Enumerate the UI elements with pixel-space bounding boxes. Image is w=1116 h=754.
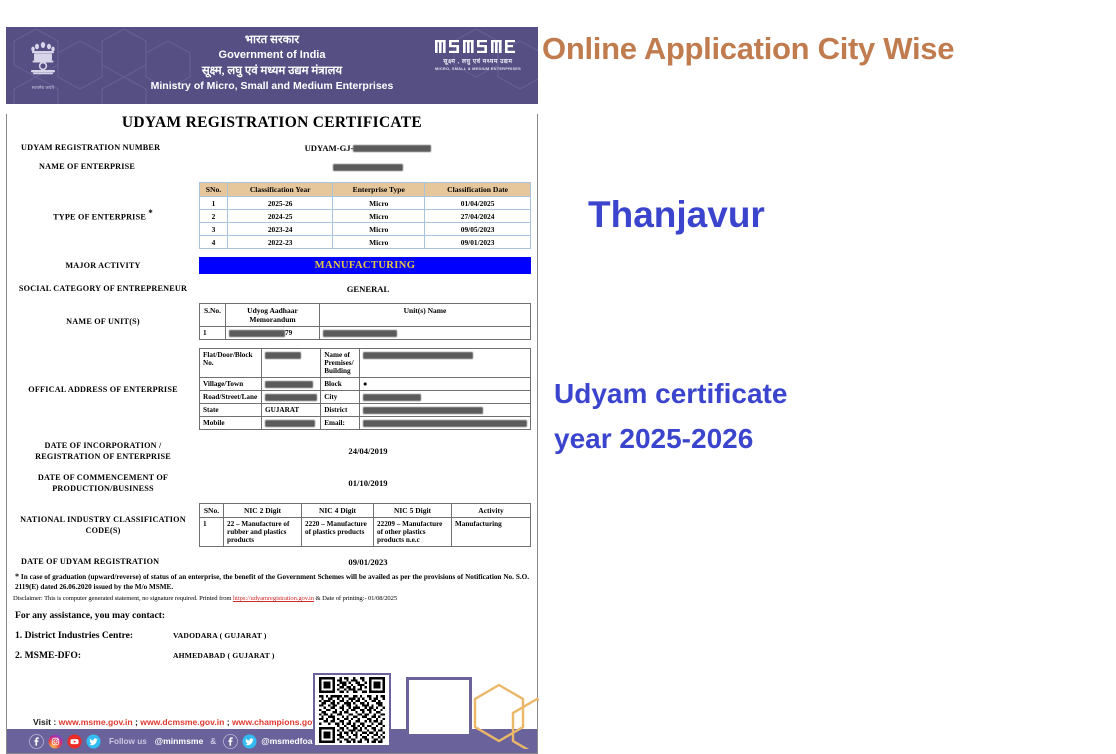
major-activity-banner: MANUFACTURING — [199, 257, 531, 274]
redacted-registration-number — [353, 145, 431, 152]
cell-road-value — [262, 391, 321, 404]
msme-logo-english: MICRO, SMALL & MEDIUM ENTERPRISES — [430, 66, 526, 71]
cell-email-label: Email: — [321, 417, 360, 430]
instagram-icon[interactable] — [48, 734, 63, 749]
row-udyam-registration-date: DATE OF UDYAM REGISTRATION 09/01/2023 — [7, 556, 537, 567]
cell-email-value — [360, 417, 531, 430]
follow-us-text: Follow us — [109, 737, 147, 746]
label-nic-codes: NATIONAL INDUSTRY CLASSIFICATION CODE(S) — [7, 514, 199, 536]
cell-uam: 79 — [226, 327, 320, 340]
row-major-activity: MAJOR ACTIVITY MANUFACTURING — [7, 257, 537, 274]
panel-subtitle: Udyam certificate year 2025-2026 — [554, 371, 787, 461]
units-table-header-row: S.No. Udyog Aadhaar Memorandum Unit(s) N… — [200, 304, 531, 327]
cell-unit-name — [320, 327, 531, 340]
cell-date: 01/04/2025 — [425, 197, 531, 210]
uam-suffix: 79 — [285, 329, 292, 337]
cell-mobile-value — [262, 417, 321, 430]
label-official-address: OFFICAL ADDRESS OF ENTERPRISE — [7, 384, 199, 395]
certificate-title: UDYAM REGISTRATION CERTIFICATE — [7, 114, 537, 132]
cell-type: Micro — [333, 236, 425, 249]
table-row: 1 79 — [200, 327, 531, 340]
th-units-sno: S.No. — [200, 304, 226, 327]
value-social-category: GENERAL — [199, 284, 537, 294]
cell-date: 09/01/2023 — [425, 236, 531, 249]
redacted-premises — [363, 352, 473, 359]
twitter-icon-secondary[interactable] — [242, 734, 257, 749]
right-panel: Online Application City Wise Thanjavur U… — [540, 0, 1116, 753]
th-nic-sno: SNo. — [200, 504, 224, 518]
cell-year: 2025-26 — [228, 197, 333, 210]
value-udyam-registration-date: 09/01/2023 — [199, 557, 537, 567]
th-nic4: NIC 4 Digit — [302, 504, 374, 518]
label-name-of-units: NAME OF UNIT(S) — [7, 316, 199, 327]
redacted-uam — [229, 330, 285, 337]
cell-district-value — [360, 404, 531, 417]
major-activity-wrap: MANUFACTURING — [199, 257, 537, 274]
cell-nic4: 2220 – Manufacture of plastics products — [302, 518, 374, 547]
contact-key: 1. District Industries Centre: — [15, 630, 173, 641]
msme-logo: सूक्ष्म , लघु एवं मध्यम उद्यम MICRO, SMA… — [430, 38, 526, 71]
disclaimer-prefix: Disclaimer: This is computer generated s… — [13, 595, 233, 602]
table-row: Village/Town Block ● — [200, 378, 531, 391]
cell-sno: 4 — [200, 236, 228, 249]
contact-value: AHMEDABAD ( GUJARAT ) — [173, 651, 275, 660]
nic-table-header-row: SNo. NIC 2 Digit NIC 4 Digit NIC 5 Digit… — [200, 504, 531, 518]
label-enterprise-type: TYPE OF ENTERPRISE * — [7, 208, 199, 223]
label-commencement-date: DATE OF COMMENCEMENT OF PRODUCTION/BUSIN… — [7, 472, 199, 494]
cell-date: 27/04/2024 — [425, 210, 531, 223]
cell-sno: 1 — [200, 197, 228, 210]
graduation-footnote: * In case of graduation (upward/reverse)… — [7, 572, 537, 592]
th-nic5: NIC 5 Digit — [374, 504, 452, 518]
address-table: Flat/Door/Block No. Name of Premises/ Bu… — [199, 348, 531, 430]
table-row: 4 2022-23 Micro 09/01/2023 — [200, 236, 531, 249]
th-nic2: NIC 2 Digit — [224, 504, 302, 518]
subtitle-line-1: Udyam certificate — [554, 371, 787, 416]
handle-minmsme[interactable]: @minmsme — [155, 736, 204, 746]
cell-village-value — [262, 378, 321, 391]
cell-year: 2023-24 — [228, 223, 333, 236]
disclaimer-link[interactable]: https://udyamregistration.gov.in — [233, 595, 314, 602]
redacted-mobile — [265, 420, 315, 427]
visit-sep-2: ; — [224, 717, 232, 727]
twitter-icon[interactable] — [86, 734, 101, 749]
msme-logo-icon — [435, 38, 521, 55]
table-row: 1 22 – Manufacture of rubber and plastic… — [200, 518, 531, 547]
header-english-ministry: Ministry of Micro, Small and Medium Ente… — [6, 79, 538, 94]
row-commencement-date: DATE OF COMMENCEMENT OF PRODUCTION/BUSIN… — [7, 472, 537, 494]
cell-premises-label: Name of Premises/ Building — [321, 349, 360, 378]
placeholder-box — [406, 677, 472, 737]
cell-block-label: Block — [321, 378, 360, 391]
row-official-address: OFFICAL ADDRESS OF ENTERPRISE Flat/Door/… — [7, 348, 537, 430]
th-enterprise-type: Enterprise Type — [333, 183, 425, 197]
value-registration-number: UDYAM-GJ- — [199, 143, 537, 153]
udyam-certificate: सत्यमेव जयते भारत सरकार Government of In… — [6, 27, 538, 744]
row-incorporation-date: DATE OF INCORPORATION / REGISTRATION OF … — [7, 440, 537, 462]
facebook-icon[interactable] — [29, 734, 44, 749]
cell-flat-label: Flat/Door/Block No. — [200, 349, 262, 378]
cell-mobile-label: Mobile — [200, 417, 262, 430]
th-unit-name: Unit(s) Name — [320, 304, 531, 327]
cell-date: 09/05/2023 — [425, 223, 531, 236]
row-nic-codes: NATIONAL INDUSTRY CLASSIFICATION CODE(S)… — [7, 503, 537, 547]
youtube-icon[interactable] — [67, 734, 82, 749]
cell-state-label: State — [200, 404, 262, 417]
disclaimer: Disclaimer: This is computer generated s… — [7, 595, 537, 602]
row-name-of-units: NAME OF UNIT(S) S.No. Udyog Aadhaar Memo… — [7, 303, 537, 340]
row-social-category: SOCIAL CATEGORY OF ENTREPRENEUR GENERAL — [7, 283, 537, 294]
qr-code-image — [317, 677, 387, 743]
redacted-unit-name — [323, 330, 397, 337]
facebook-icon-secondary[interactable] — [223, 734, 238, 749]
visit-prefix: Visit : — [33, 717, 59, 727]
cell-sno: 2 — [200, 210, 228, 223]
table-row: Mobile Email: — [200, 417, 531, 430]
classification-table-wrap: SNo. Classification Year Enterprise Type… — [199, 182, 537, 249]
row-registration-number: UDYAM REGISTRATION NUMBER UDYAM-GJ- — [7, 142, 537, 153]
redacted-road — [265, 394, 317, 401]
label-incorporation-date: DATE OF INCORPORATION / REGISTRATION OF … — [7, 440, 199, 462]
cell-units-sno: 1 — [200, 327, 226, 340]
redacted-email — [363, 420, 527, 427]
row-enterprise-type: TYPE OF ENTERPRISE * SNo. Classification… — [7, 182, 537, 249]
contact-key: 2. MSME-DFO: — [15, 650, 173, 661]
address-table-wrap: Flat/Door/Block No. Name of Premises/ Bu… — [199, 348, 537, 430]
units-table: S.No. Udyog Aadhaar Memorandum Unit(s) N… — [199, 303, 531, 340]
cell-sno: 3 — [200, 223, 228, 236]
cell-year: 2024-25 — [228, 210, 333, 223]
label-enterprise-type-text: TYPE OF ENTERPRISE — [53, 213, 146, 222]
cell-district-label: District — [321, 404, 360, 417]
value-enterprise-name — [199, 162, 537, 172]
certificate-header: सत्यमेव जयते भारत सरकार Government of In… — [6, 27, 538, 104]
redacted-enterprise-name — [333, 164, 403, 171]
cell-block-value: ● — [360, 378, 531, 391]
classification-table: SNo. Classification Year Enterprise Type… — [199, 182, 531, 249]
value-incorporation-date: 24/04/2019 — [199, 446, 537, 456]
th-classification-date: Classification Date — [425, 183, 531, 197]
table-row: 1 2025-26 Micro 01/04/2025 — [200, 197, 531, 210]
disclaimer-suffix: & Date of printing:- 01/08/2025 — [314, 595, 397, 602]
footnote-asterisk: * — [15, 572, 19, 581]
contact-msme-dfo: 2. MSME-DFO: AHMEDABAD ( GUJARAT ) — [7, 650, 537, 661]
cell-type: Micro — [333, 210, 425, 223]
cell-premises-value — [360, 349, 531, 378]
redacted-district — [363, 407, 483, 414]
redacted-city — [363, 394, 421, 401]
row-enterprise-name: NAME OF ENTERPRISE — [7, 161, 537, 172]
contact-value: VADODARA ( GUJARAT ) — [173, 631, 267, 640]
registration-number-prefix: UDYAM-GJ- — [305, 143, 354, 153]
cell-city-value — [360, 391, 531, 404]
label-registration-number: UDYAM REGISTRATION NUMBER — [7, 142, 199, 153]
contact-district-industries-centre: 1. District Industries Centre: VADODARA … — [7, 630, 537, 641]
subtitle-line-2: year 2025-2026 — [554, 416, 787, 461]
assistance-title: For any assistance, you may contact: — [7, 610, 537, 621]
label-udyam-registration-date: DATE OF UDYAM REGISTRATION — [7, 556, 199, 567]
cell-year: 2022-23 — [228, 236, 333, 249]
visit-link-dcmsme[interactable]: www.dcmsme.gov.in — [140, 717, 224, 727]
cell-city-label: City — [321, 391, 360, 404]
city-name: Thanjavur — [588, 194, 765, 236]
th-classification-year: Classification Year — [228, 183, 333, 197]
label-social-category: SOCIAL CATEGORY OF ENTREPRENEUR — [7, 283, 199, 294]
nic-table: SNo. NIC 2 Digit NIC 4 Digit NIC 5 Digit… — [199, 503, 531, 547]
th-sno: SNo. — [200, 183, 228, 197]
cell-type: Micro — [333, 197, 425, 210]
cell-road-label: Road/Street/Lane — [200, 391, 262, 404]
cell-flat-value — [262, 349, 321, 378]
table-row: Road/Street/Lane City — [200, 391, 531, 404]
redacted-flat — [265, 352, 301, 359]
table-row: 3 2023-24 Micro 09/05/2023 — [200, 223, 531, 236]
msme-logo-hindi: सूक्ष्म , लघु एवं मध्यम उद्यम — [430, 57, 526, 65]
label-major-activity: MAJOR ACTIVITY — [7, 260, 199, 271]
cell-nic2: 22 – Manufacture of rubber and plastics … — [224, 518, 302, 547]
panel-title: Online Application City Wise — [542, 31, 954, 67]
th-uam: Udyog Aadhaar Memorandum — [226, 304, 320, 327]
table-row: 2 2024-25 Micro 27/04/2024 — [200, 210, 531, 223]
certificate-body: UDYAM REGISTRATION CERTIFICATE UDYAM REG… — [6, 114, 538, 754]
table-row: Flat/Door/Block No. Name of Premises/ Bu… — [200, 349, 531, 378]
cell-activity: Manufacturing — [452, 518, 531, 547]
cell-nic5: 22209 – Manufacture of other plastics pr… — [374, 518, 452, 547]
cell-state-value: GUJARAT — [262, 404, 321, 417]
table-row: State GUJARAT District — [200, 404, 531, 417]
cell-type: Micro — [333, 223, 425, 236]
th-activity: Activity — [452, 504, 531, 518]
redacted-village — [265, 381, 313, 388]
ampersand: & — [210, 737, 216, 746]
footnote-text: In case of graduation (upward/reverse) o… — [15, 573, 529, 591]
cell-nic-sno: 1 — [200, 518, 224, 547]
value-commencement-date: 01/10/2019 — [199, 478, 537, 488]
nic-table-wrap: SNo. NIC 2 Digit NIC 4 Digit NIC 5 Digit… — [199, 503, 537, 547]
qr-code[interactable] — [313, 673, 391, 747]
units-table-wrap: S.No. Udyog Aadhaar Memorandum Unit(s) N… — [199, 303, 537, 340]
classification-table-header-row: SNo. Classification Year Enterprise Type… — [200, 183, 531, 197]
cell-village-label: Village/Town — [200, 378, 262, 391]
visit-link-msme[interactable]: www.msme.gov.in — [59, 717, 133, 727]
label-enterprise-name: NAME OF ENTERPRISE — [7, 161, 199, 172]
